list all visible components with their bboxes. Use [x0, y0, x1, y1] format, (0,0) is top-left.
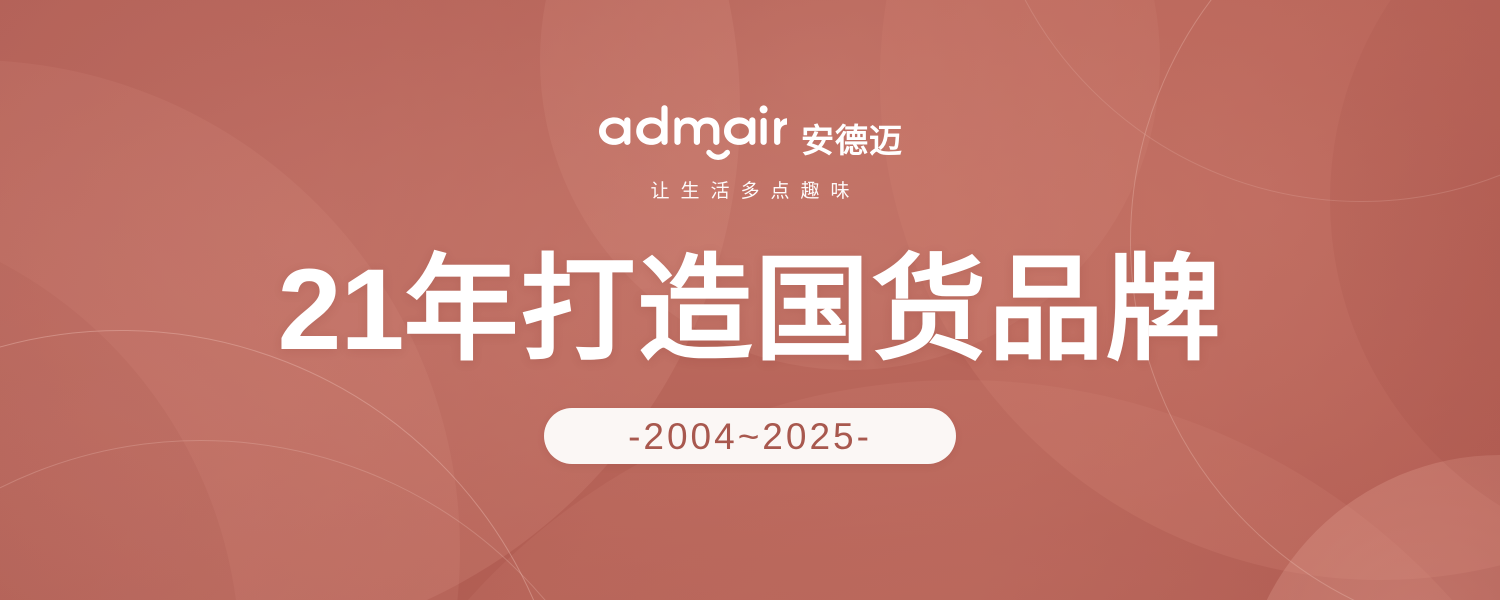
year-range-badge: -2004~2025-	[544, 408, 956, 464]
admair-wordmark	[597, 104, 787, 162]
logo-chinese-name: 安德迈	[801, 124, 903, 157]
smile-arc-icon	[709, 153, 727, 158]
brand-tagline: 让生活多点趣味	[639, 182, 860, 201]
admair-logo-icon	[597, 104, 787, 162]
year-range-text: -2004~2025-	[628, 418, 872, 455]
headline-text: 年打造国货品牌	[403, 246, 1222, 374]
banner-content: 安德迈 让生活多点趣味 21年打造国货品牌 -2004~2025-	[0, 0, 1500, 600]
headline-number: 21	[278, 246, 404, 374]
logo-lockup: 安德迈	[597, 100, 903, 162]
brand-anniversary-banner: 安德迈 让生活多点趣味 21年打造国货品牌 -2004~2025-	[0, 0, 1500, 600]
headline: 21年打造国货品牌	[278, 253, 1223, 368]
